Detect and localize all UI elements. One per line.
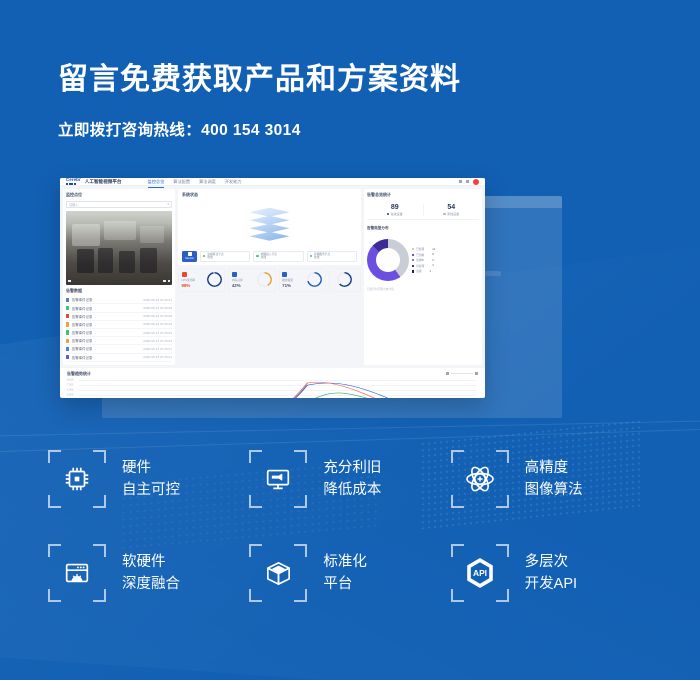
gauge-memory: 内存占用 42% bbox=[228, 268, 275, 292]
status-led-icon bbox=[256, 255, 258, 257]
list-item[interactable]: 告警事件记录 2025-06-13 07:20:31 bbox=[66, 296, 172, 304]
monitor-panel-title: 监控点位 bbox=[66, 192, 172, 198]
gauge-ring bbox=[257, 272, 272, 287]
feature-line1: 标准化 bbox=[323, 551, 367, 573]
node-chip[interactable]: 边缘算法节点在线 bbox=[200, 251, 250, 262]
nav-item-algorithm-config[interactable]: 算法配置 bbox=[173, 179, 190, 185]
alarm-type-icon bbox=[66, 314, 69, 318]
node-chip[interactable]: 视频接入节点在线 bbox=[253, 251, 303, 262]
gauge-label: CPU使用率 bbox=[182, 278, 196, 282]
legend-item: 已忽略8 bbox=[412, 253, 435, 257]
promo-header: 留言免费获取产品和方案资料 立即拨打咨询热线：400 154 3014 bbox=[58, 62, 461, 140]
list-item-time: 2025-06-13 07:20:33 bbox=[143, 339, 172, 343]
trend-chart-panel: 告警趋势统计 8,000 7,000 6,000 5,000 4,000 3,0… bbox=[63, 368, 482, 398]
background-diagonal-line bbox=[0, 421, 700, 437]
alarm-type-icon bbox=[66, 355, 69, 359]
brand-logo-text: Cerebr bbox=[66, 178, 81, 182]
alarm-type-icon bbox=[66, 347, 69, 351]
donut-legend: 已处理12 已忽略8 处理中5 待处理3 误报2 bbox=[412, 247, 435, 273]
gauge-cpu: CPU使用率 98% bbox=[178, 268, 225, 292]
feature-text: 标准化 平台 bbox=[323, 551, 367, 596]
slider-track[interactable] bbox=[451, 373, 473, 374]
feature-reuse[interactable]: 充分利旧 降低成本 bbox=[249, 450, 450, 508]
stat-caption: 离线设备 bbox=[424, 212, 480, 216]
alarm-type-donut: 已处理12 已忽略8 处理中5 待处理3 误报2 bbox=[367, 239, 479, 281]
alarm-type-icon bbox=[66, 306, 69, 310]
feature-line1: 软硬件 bbox=[122, 551, 180, 573]
feature-line2: 深度融合 bbox=[122, 573, 180, 595]
hotline-text: 立即拨打咨询热线：400 154 3014 bbox=[58, 118, 461, 140]
memory-icon bbox=[232, 272, 237, 277]
legend-item: 待处理3 bbox=[412, 264, 435, 268]
list-item-time: 2025-06-13 07:20:21 bbox=[143, 355, 172, 359]
app-title: 人工智能视频平台 bbox=[85, 179, 122, 185]
list-item[interactable]: 告警事件记录 2025-06-13 07:20:29 bbox=[66, 304, 172, 312]
list-item-label: 告警事件记录 bbox=[72, 330, 92, 335]
nav-item-overview[interactable]: 监控总览 bbox=[148, 179, 165, 185]
list-item-label: 告警事件记录 bbox=[72, 306, 92, 311]
legend-item: 已处理12 bbox=[412, 247, 435, 251]
offline-dot-icon bbox=[443, 213, 445, 215]
node-chip-label: 存储服务节点在线 bbox=[314, 253, 330, 260]
feature-text: 充分利旧 降低成本 bbox=[323, 457, 381, 502]
service-icon bbox=[188, 252, 192, 256]
close-icon[interactable] bbox=[473, 179, 479, 185]
nav-item-dev-capability[interactable]: 开发能力 bbox=[225, 179, 242, 185]
list-item[interactable]: 告警事件记录 2025-06-13 07:20:33 bbox=[66, 337, 172, 345]
trend-chart-header: 告警趋势统计 bbox=[67, 371, 478, 377]
node-chip[interactable]: 存储服务节点在线 bbox=[307, 251, 357, 262]
series-line-fire bbox=[79, 393, 476, 398]
dashboard-window: Cerebr 人工智能视频平台 监控总览 算法配置 算法调度 开发能力 监控点位 bbox=[60, 178, 485, 398]
dashboard-nav: 监控总览 算法配置 算法调度 开发能力 bbox=[148, 179, 242, 185]
legend-item: 处理中5 bbox=[412, 258, 435, 262]
alarm-list: 告警事件记录 2025-06-13 07:20:31 告警事件记录 2025-0… bbox=[66, 296, 172, 362]
dashboard-screenshot: Cerebr 人工智能视频平台 监控总览 算法配置 算法调度 开发能力 监控点位 bbox=[60, 178, 640, 423]
feature-line1: 充分利旧 bbox=[323, 457, 381, 479]
stat-value: 89 bbox=[367, 204, 423, 211]
video-toolbar[interactable] bbox=[66, 278, 172, 285]
stat-offline-devices: 54 离线设备 bbox=[423, 204, 480, 216]
feature-text: 高精度 图像算法 bbox=[525, 457, 583, 502]
list-item-label: 告警事件记录 bbox=[72, 338, 92, 343]
list-item-time: 2025-06-13 07:20:29 bbox=[143, 306, 172, 310]
list-item[interactable]: 告警事件记录 2025-06-13 07:20:23 bbox=[66, 321, 172, 329]
feature-line1: 高精度 bbox=[525, 457, 583, 479]
node-chip-label: 边缘算法节点在线 bbox=[207, 253, 223, 260]
list-item-time: 2025-06-13 07:20:36 bbox=[143, 314, 172, 318]
cpu-icon bbox=[182, 272, 187, 277]
sound-icon[interactable] bbox=[163, 280, 166, 283]
list-item-label: 告警事件记录 bbox=[72, 297, 92, 302]
status-led-icon bbox=[203, 255, 205, 257]
brand-logo-squares bbox=[66, 183, 81, 185]
list-item-label: 告警事件记录 bbox=[72, 346, 92, 351]
feature-text: 硬件 自主可控 bbox=[122, 457, 180, 502]
monitor-panel: 监控点位 请输入 ▾ bbox=[66, 192, 172, 285]
slider-knob-right[interactable] bbox=[475, 372, 478, 375]
service-center-label: Service bbox=[185, 257, 194, 260]
brand-logo: Cerebr bbox=[66, 178, 81, 185]
feature-hardware[interactable]: 硬件 自主可控 bbox=[48, 450, 249, 508]
list-item[interactable]: 告警事件记录 2025-06-13 07:20:21 bbox=[66, 354, 172, 362]
chevron-down-icon[interactable]: ▾ bbox=[167, 202, 169, 206]
trend-chart-title: 告警趋势统计 bbox=[67, 371, 91, 377]
gauge-ring bbox=[207, 272, 222, 287]
search-input[interactable]: 请输入 ▾ bbox=[66, 201, 172, 208]
feature-line2: 平台 bbox=[323, 573, 367, 595]
trend-chart-svg bbox=[79, 379, 476, 398]
gauge-network bbox=[329, 268, 361, 292]
alarm-type-icon bbox=[66, 298, 69, 302]
list-item[interactable]: 告警事件记录 2025-06-13 07:20:27 bbox=[66, 345, 172, 353]
feature-algorithm[interactable]: 高精度 图像算法 bbox=[451, 450, 652, 508]
time-range-slider[interactable] bbox=[446, 372, 478, 375]
api-hexagon-icon: API bbox=[451, 544, 509, 602]
series-line-total bbox=[79, 383, 476, 398]
right-column: 告警总览统计 0 89 在线设备 54 离线设备 bbox=[364, 189, 482, 365]
node-chip-label: 视频接入节点在线 bbox=[261, 253, 277, 260]
online-dot-icon bbox=[387, 213, 389, 215]
search-placeholder: 请输入 bbox=[69, 202, 79, 207]
legend-item: 误报2 bbox=[412, 269, 435, 273]
list-item-label: 告警事件记录 bbox=[72, 322, 92, 327]
feature-text: 软硬件 深度融合 bbox=[122, 551, 180, 596]
background-diagonal-line bbox=[0, 429, 700, 452]
donut-chart bbox=[367, 239, 409, 281]
alarm-type-icon bbox=[66, 322, 69, 326]
list-item-time: 2025-06-13 07:20:31 bbox=[143, 298, 172, 302]
list-item-label: 告警事件记录 bbox=[72, 314, 92, 319]
feature-grid: 硬件 自主可控 充分利旧 降低成本 bbox=[0, 450, 700, 602]
minimize-icon[interactable] bbox=[459, 180, 462, 183]
donut-chart-title: 告警类型分布 bbox=[367, 226, 479, 231]
feature-line1: 硬件 bbox=[122, 457, 180, 479]
trend-chart-plot: 8,000 7,000 6,000 5,000 4,000 3,000 2,00… bbox=[67, 379, 478, 398]
donut-footnote: 已运行时间累计统计值 bbox=[367, 287, 479, 291]
system-status-panel: 系统状态 Service 边 bbox=[178, 189, 361, 265]
feature-platform[interactable]: 标准化 平台 bbox=[249, 544, 450, 602]
feature-line1: 多层次 bbox=[525, 551, 577, 573]
maximize-icon[interactable] bbox=[466, 180, 469, 183]
alarm-list-panel: 告警数据 告警事件记录 2025-06-13 07:20:31 告警事件记录 2… bbox=[66, 288, 172, 362]
feature-line2: 降低成本 bbox=[323, 479, 381, 501]
page-title: 留言免费获取产品和方案资料 bbox=[58, 62, 461, 98]
stat-caption: 在线设备 bbox=[367, 212, 423, 216]
feature-line2: 图像算法 bbox=[525, 479, 583, 501]
gauge-label: 内存占用 bbox=[232, 278, 243, 282]
stat-online-devices: 0 89 在线设备 bbox=[367, 204, 423, 216]
nav-item-algorithm-schedule[interactable]: 算法调度 bbox=[199, 179, 216, 185]
window-gear-icon bbox=[48, 544, 106, 602]
chip-icon bbox=[48, 450, 106, 508]
feature-line2: 自主可控 bbox=[122, 479, 180, 501]
overview-panel-title: 告警总览统计 bbox=[367, 192, 479, 198]
node-status-chips: Service 边缘算法节点在线 视频接入节点在线 存储服务节点在线 bbox=[182, 251, 357, 262]
dashboard-body: 监控点位 请输入 ▾ bbox=[60, 186, 485, 368]
window-controls bbox=[459, 179, 479, 185]
system-status-title: 系统状态 bbox=[182, 192, 357, 198]
middle-column: 系统状态 Service 边 bbox=[178, 189, 361, 365]
feature-api[interactable]: API 多层次 开发API bbox=[451, 544, 652, 602]
series-line-person bbox=[79, 382, 476, 398]
alarm-list-title: 告警数据 bbox=[66, 288, 172, 294]
disk-icon bbox=[282, 272, 287, 277]
gauge-value: 71% bbox=[282, 283, 293, 288]
alarm-type-icon bbox=[66, 330, 69, 334]
gauge-value: 42% bbox=[232, 283, 243, 288]
stat-value: 54 bbox=[424, 204, 480, 211]
status-led-icon bbox=[310, 255, 312, 257]
alarm-type-icon bbox=[66, 339, 69, 343]
fullscreen-icon[interactable] bbox=[168, 280, 171, 283]
cube-icon bbox=[249, 544, 307, 602]
feature-integration[interactable]: 软硬件 深度融合 bbox=[48, 544, 249, 602]
svg-text:API: API bbox=[473, 568, 487, 578]
play-icon[interactable] bbox=[68, 280, 71, 283]
gauge-value: 98% bbox=[182, 283, 196, 288]
list-item-time: 2025-06-13 07:20:29 bbox=[143, 331, 172, 335]
left-column: 监控点位 请输入 ▾ bbox=[63, 189, 175, 365]
architecture-illustration bbox=[182, 201, 357, 249]
list-item[interactable]: 告警事件记录 2025-06-13 07:20:29 bbox=[66, 329, 172, 337]
feature-text: 多层次 开发API bbox=[525, 551, 577, 596]
dashboard-header: Cerebr 人工智能视频平台 监控总览 算法配置 算法调度 开发能力 bbox=[60, 178, 485, 186]
gauge-ring bbox=[337, 272, 352, 287]
gauge-ring bbox=[307, 272, 322, 287]
resource-gauges: CPU使用率 98% 内存占用 42% bbox=[178, 268, 361, 292]
layer-stack-icon bbox=[250, 208, 290, 242]
slider-knob-left[interactable] bbox=[446, 372, 449, 375]
list-item-label: 告警事件记录 bbox=[72, 355, 92, 360]
list-item-time: 2025-06-13 07:20:27 bbox=[143, 347, 172, 351]
video-preview[interactable] bbox=[66, 211, 172, 285]
device-stats: 0 89 在线设备 54 离线设备 bbox=[367, 204, 479, 220]
monitor-camera-icon bbox=[249, 450, 307, 508]
service-center-chip[interactable]: Service bbox=[182, 251, 197, 262]
list-item[interactable]: 告警事件记录 2025-06-13 07:20:36 bbox=[66, 313, 172, 321]
list-item-time: 2025-06-13 07:20:23 bbox=[143, 322, 172, 326]
feature-line2: 开发API bbox=[525, 573, 577, 595]
gauge-label: 磁盘容量 bbox=[282, 278, 293, 282]
gauge-disk: 磁盘容量 71% bbox=[279, 268, 326, 292]
atom-icon bbox=[451, 450, 509, 508]
